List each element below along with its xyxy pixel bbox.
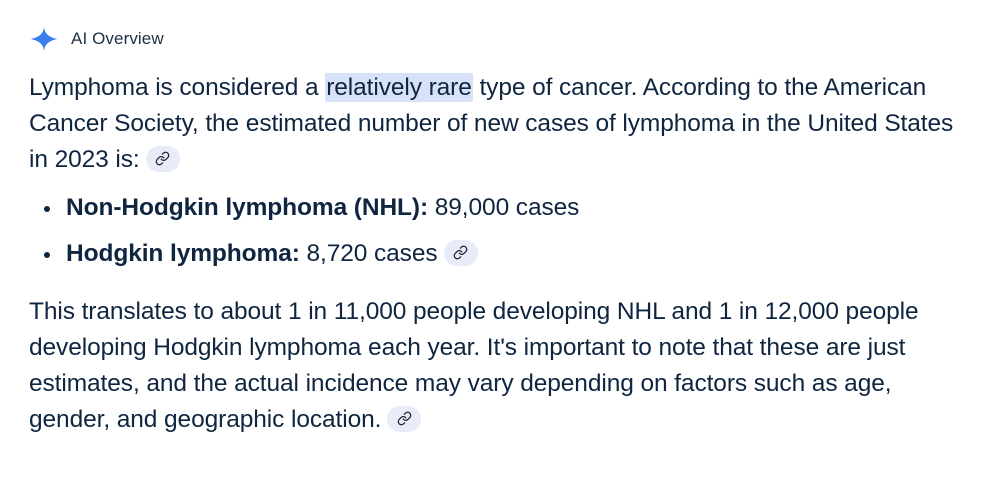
list-item: Non-Hodgkin lymphoma (NHL): 89,000 cases (26, 190, 968, 226)
paragraph-summary-text: This translates to about 1 in 11,000 peo… (29, 298, 919, 433)
link-icon (155, 151, 170, 166)
statistics-list: Non-Hodgkin lymphoma (NHL): 89,000 cases… (26, 190, 968, 272)
highlighted-phrase: relatively rare (325, 73, 473, 102)
list-item-value: 8,720 cases (300, 240, 438, 267)
paragraph-summary: This translates to about 1 in 11,000 peo… (26, 294, 968, 438)
ai-overview-label: AI Overview (71, 29, 164, 49)
paragraph-intro-before: Lymphoma is considered a (29, 74, 325, 101)
ai-overview-body: Lymphoma is considered a relatively rare… (26, 70, 968, 438)
ai-overview-header: AI Overview (29, 22, 968, 56)
sparkle-icon (29, 24, 59, 54)
source-link-chip-2[interactable] (444, 240, 478, 266)
source-link-chip-3[interactable] (387, 406, 421, 432)
link-icon (397, 411, 412, 426)
list-item-value: 89,000 cases (428, 194, 579, 221)
ai-overview-panel: AI Overview Lymphoma is considered a rel… (0, 0, 994, 490)
source-link-chip-1[interactable] (146, 146, 180, 172)
link-icon (453, 245, 468, 260)
list-item: Hodgkin lymphoma: 8,720 cases (26, 236, 968, 272)
list-item-label: Non-Hodgkin lymphoma (NHL): (66, 194, 428, 221)
paragraph-intro: Lymphoma is considered a relatively rare… (26, 70, 968, 178)
list-item-label: Hodgkin lymphoma: (66, 240, 300, 267)
